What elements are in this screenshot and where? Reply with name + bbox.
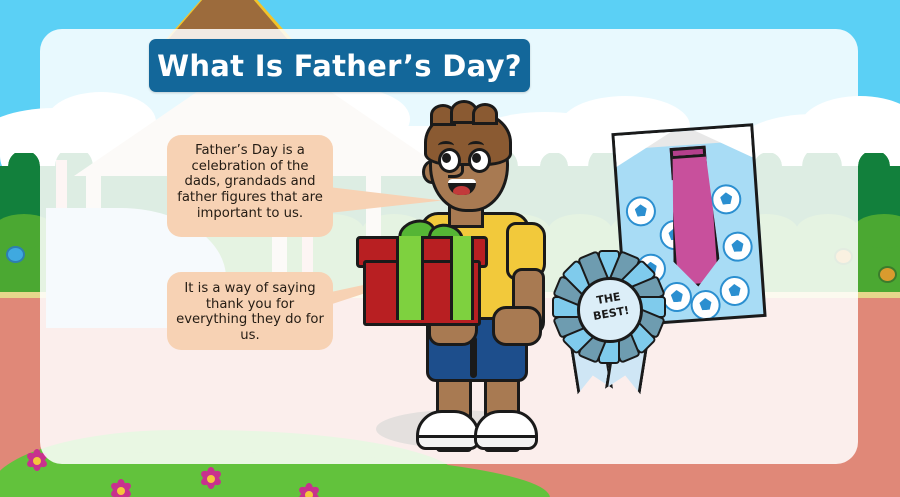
hedge-lump (852, 214, 900, 248)
teeth (448, 179, 476, 183)
shirt-collar-left (612, 130, 676, 168)
flower-icon (296, 482, 322, 497)
hair-tuft (472, 103, 498, 125)
pupil-left (442, 153, 451, 163)
speech-bubble-2: It is a way of saying thank you for ever… (167, 272, 333, 350)
gift-ribbon (396, 236, 424, 320)
football-icon (625, 195, 657, 227)
flower-icon (108, 478, 134, 497)
slide-canvas: What Is Father’s Day? (0, 0, 900, 497)
page-title: What Is Father’s Day? (157, 49, 522, 83)
hedge-berry (878, 266, 897, 283)
hedge-berry (6, 246, 25, 263)
shoe-sole (477, 435, 535, 447)
gift-ribbon (450, 236, 474, 320)
shoe-sole (419, 435, 477, 447)
football-icon (719, 275, 751, 307)
speech-bubble-1: Father’s Day is a celebration of the dad… (167, 135, 333, 237)
flower-icon (198, 466, 224, 492)
gift-box (356, 222, 482, 320)
hand-right (492, 306, 542, 346)
tongue (453, 186, 470, 195)
pupil-right (472, 153, 481, 163)
tie (666, 153, 721, 288)
football-icon (722, 231, 754, 263)
page-title-bar: What Is Father’s Day? (149, 39, 530, 92)
rosette-label: THE BEST! (578, 287, 642, 327)
shoe-right (474, 410, 538, 450)
shoe-left (416, 410, 480, 450)
football-icon (710, 183, 742, 215)
rosette-center: THE BEST! (577, 277, 643, 343)
football-icon (690, 289, 722, 321)
